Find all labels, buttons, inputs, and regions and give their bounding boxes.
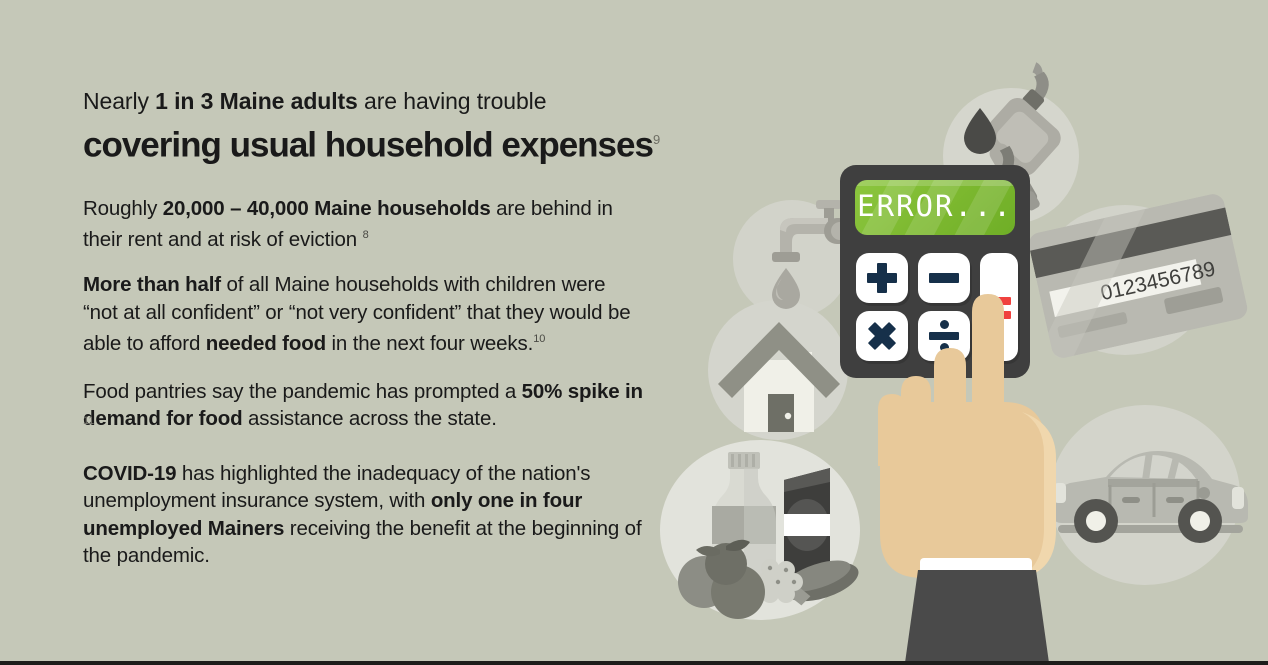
p1-bold: 20,000 – 40,000 Maine households — [163, 197, 491, 220]
p2-text-b: in the next four weeks. — [326, 332, 533, 355]
infographic-canvas: Nearly 1 in 3 Maine adults are having tr… — [0, 0, 1268, 665]
lead-suffix: are having trouble — [358, 88, 547, 114]
p3-text-b: assistance across the state. — [242, 407, 496, 430]
plus-icon — [867, 263, 897, 293]
bottom-rule — [0, 661, 1268, 665]
p1-footnote: 8 — [363, 229, 369, 241]
p2-bold-2: needed food — [206, 332, 326, 355]
p3-text-a: Food pantries say the pandemic has promp… — [83, 380, 522, 403]
p3-footnote: 11 — [83, 408, 94, 436]
page-title: covering usual household expenses9 — [83, 119, 643, 167]
text-column: Nearly 1 in 3 Maine adults are having tr… — [83, 86, 643, 570]
lead-prefix: Nearly — [83, 88, 155, 114]
p4-bold-1: COVID-19 — [83, 462, 176, 485]
hand-pressing-icon — [872, 290, 1102, 665]
illustration-group: 0123456789 — [640, 0, 1268, 665]
paragraph-unemployment: COVID-19 has highlighted the inadequacy … — [83, 460, 643, 570]
groceries-icon — [660, 430, 870, 620]
minus-icon — [929, 273, 959, 283]
paragraph-rent: Roughly 20,000 – 40,000 Maine households… — [83, 195, 643, 254]
p1-text-a: Roughly — [83, 197, 163, 220]
p2-bold-1: More than half — [83, 273, 221, 296]
lead-bold: 1 in 3 Maine adults — [155, 88, 358, 114]
lead-line: Nearly 1 in 3 Maine adults are having tr… — [83, 86, 643, 116]
paragraph-food-pantries: Food pantries say the pandemic has promp… — [83, 378, 643, 433]
p2-footnote: 10 — [533, 333, 545, 345]
paragraph-food-confidence: More than half of all Maine households w… — [83, 271, 643, 357]
calculator-display-value: ERROR... — [855, 189, 1015, 223]
headline-text: covering usual household expenses — [83, 126, 653, 165]
house-icon — [710, 300, 848, 440]
calculator-display: ERROR... — [855, 180, 1015, 235]
